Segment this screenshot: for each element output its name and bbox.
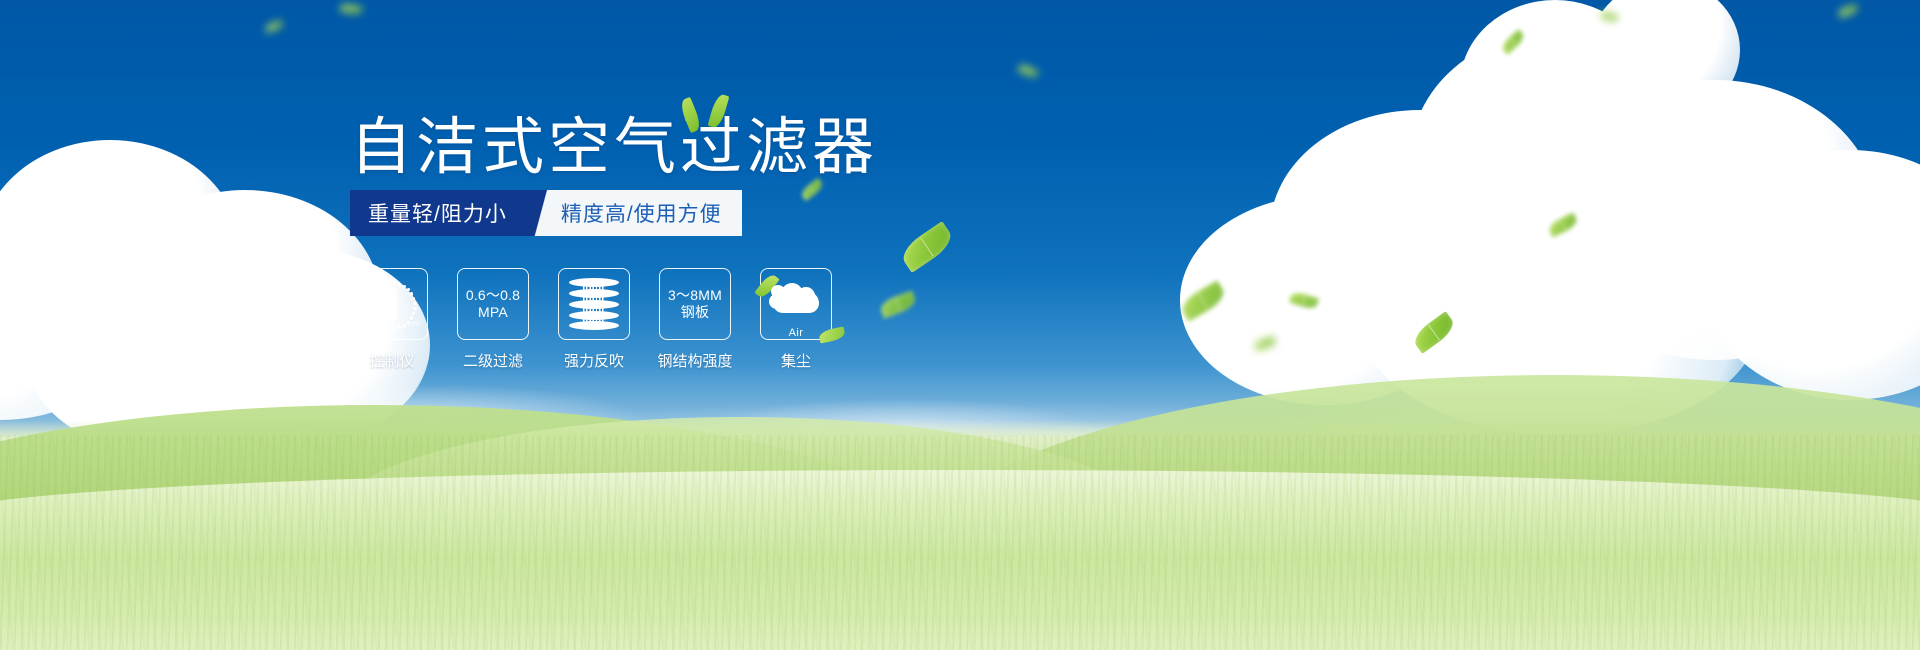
sprout-leaves-decoration [684,92,740,132]
gauge-label-off: OFF [408,322,421,328]
feature-item-back-blow[interactable]: 强力反吹 [558,268,630,371]
feature-icon-box [558,268,630,340]
feature-item-controller[interactable]: NO OFF 控制仪 [356,268,428,371]
feature-icon-box: Air [760,268,832,340]
tagline-bar: 重量轻/阻力小 精度高/使用方便 [350,190,742,236]
feature-label: 二级过滤 [463,350,523,371]
pressure-text-icon: 0.6～0.8 MPA [466,287,520,322]
gauge-icon: NO OFF [363,278,421,330]
feature-icon-box: 0.6～0.8 MPA [457,268,529,340]
feature-icon-box: 3～8MM 钢板 [659,268,731,340]
feature-item-dust-collection[interactable]: Air 集尘 [760,268,832,371]
tagline-divider [529,190,555,236]
feature-list: NO OFF 控制仪 0.6～0.8 MPA 二级过滤 [356,268,832,371]
feature-label: 控制仪 [369,350,414,371]
feature-item-two-stage-filter[interactable]: 0.6～0.8 MPA 二级过滤 [457,268,529,371]
tagline-right: 精度高/使用方便 [555,190,742,236]
feature-label: 强力反吹 [564,350,624,371]
feature-icon-box: NO OFF [356,268,428,340]
feature-item-steel-strength[interactable]: 3～8MM 钢板 钢结构强度 [659,268,731,371]
leaf-icon [708,93,730,129]
filter-stack-icon [569,278,619,330]
feature-label: 集尘 [781,350,811,371]
banner-content: 自洁式空气过滤器 重量轻/阻力小 精度高/使用方便 NO OFF [350,0,1170,650]
air-cloud-icon: Air [767,281,825,327]
hero-banner: 自洁式空气过滤器 重量轻/阻力小 精度高/使用方便 NO OFF [0,0,1920,650]
steel-plate-text-icon: 3～8MM 钢板 [668,287,722,322]
tagline-left: 重量轻/阻力小 [350,190,529,236]
gauge-label-no: NO [361,301,371,307]
page-title: 自洁式空气过滤器 [350,117,878,179]
air-label: Air [767,327,825,339]
feature-label: 钢结构强度 [658,350,733,371]
